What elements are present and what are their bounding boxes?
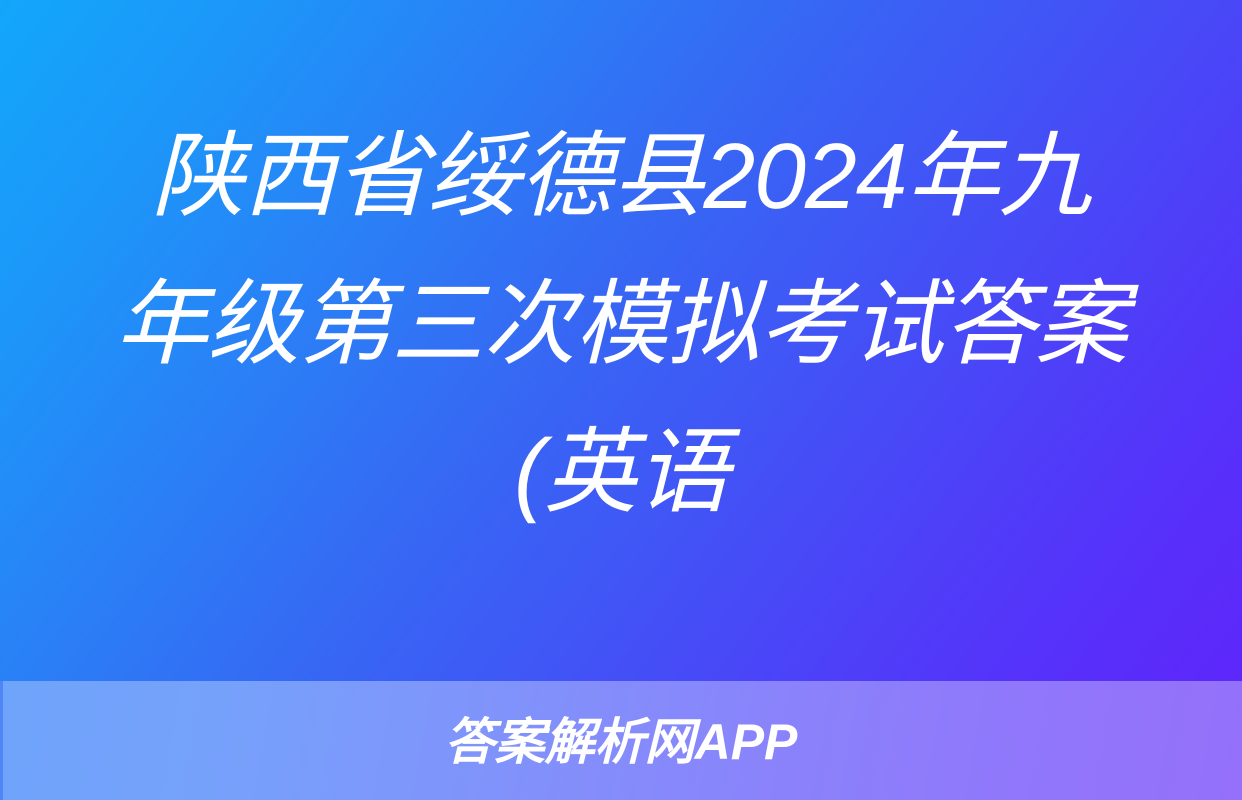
watermark-text: 答案解析网APP xyxy=(445,717,798,767)
cover-banner: 陕西省绥德县2024年九 年级第三次模拟考试答案 (英语 答案解析网APP xyxy=(0,0,1242,800)
hero-panel: 陕西省绥德县2024年九 年级第三次模拟考试答案 (英语 xyxy=(0,0,1242,681)
title-line-3: (英语 xyxy=(0,398,1242,546)
watermark-band: 答案解析网APP xyxy=(0,681,1242,800)
title-line-1: 陕西省绥德县2024年九 xyxy=(0,102,1242,250)
band-left-edge-stripe xyxy=(0,681,3,800)
title-block: 陕西省绥德县2024年九 年级第三次模拟考试答案 (英语 xyxy=(0,0,1242,681)
title-line-2: 年级第三次模拟考试答案 xyxy=(0,250,1242,398)
